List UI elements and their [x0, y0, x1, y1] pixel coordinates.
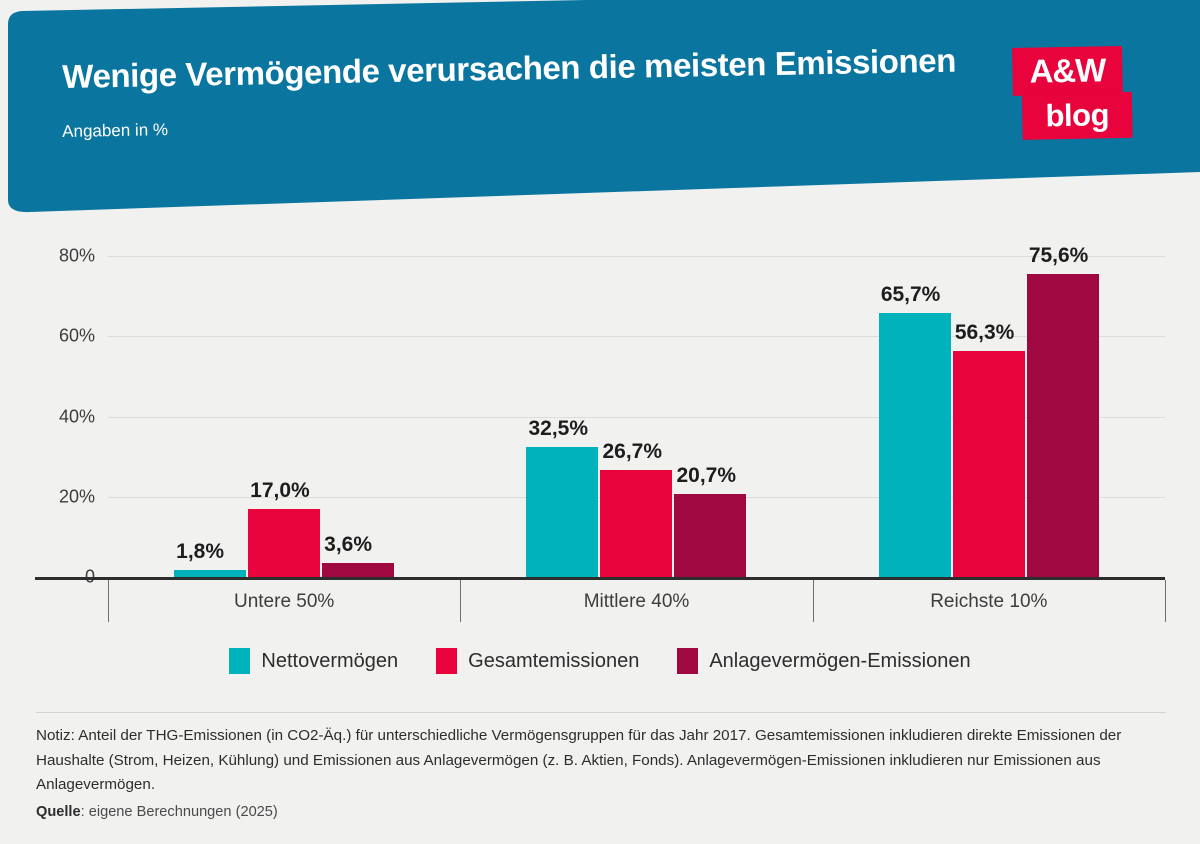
source-value: : eigene Berechnungen (2025) — [81, 804, 278, 820]
bar[interactable] — [953, 351, 1025, 577]
bar[interactable] — [248, 509, 320, 577]
legend-label: Nettovermögen — [261, 650, 398, 673]
plot-area: 1,8%17,0%3,6%32,5%26,7%20,7%65,7%56,3%75… — [108, 232, 1165, 577]
bar-value-label: 26,7% — [602, 440, 662, 464]
bar[interactable] — [526, 447, 598, 577]
logo-text-blog: blog — [1022, 92, 1133, 140]
legend-label: Gesamtemissionen — [468, 650, 639, 673]
bar[interactable] — [322, 563, 394, 577]
y-axis-tick-label: 80% — [35, 246, 95, 267]
header-banner: Wenige Vermögende verursachen die meiste… — [0, 0, 1200, 225]
legend-swatch — [229, 648, 250, 674]
footnote-text: Notiz: Anteil der THG-Emissionen (in CO2… — [36, 724, 1158, 798]
y-axis-tick-label: 20% — [35, 486, 95, 507]
bar-value-label: 65,7% — [881, 283, 941, 307]
category-separator — [1165, 580, 1166, 622]
page-title: Wenige Vermögende verursachen die meiste… — [62, 41, 993, 96]
x-axis-line — [35, 577, 1165, 580]
footer-divider — [36, 712, 1166, 713]
bar-group: 1,8%17,0%3,6% — [108, 232, 460, 577]
bar[interactable] — [174, 570, 246, 577]
bar-value-label: 1,8% — [176, 540, 224, 564]
legend-label: Anlagevermögen-Emissionen — [709, 650, 970, 673]
bar-group: 65,7%56,3%75,6% — [813, 232, 1165, 577]
bar-value-label: 75,6% — [1029, 244, 1089, 268]
y-axis-tick-label: 60% — [35, 326, 95, 347]
chart-legend: NettovermögenGesamtemissionenAnlagevermö… — [0, 648, 1200, 674]
legend-swatch — [677, 648, 698, 674]
bar[interactable] — [674, 494, 746, 577]
legend-item[interactable]: Nettovermögen — [229, 648, 398, 674]
bar-chart: 020%40%60%80% 1,8%17,0%3,6%32,5%26,7%20,… — [0, 232, 1200, 632]
bar[interactable] — [879, 313, 951, 577]
bar[interactable] — [600, 470, 672, 577]
logo-text-aw: A&W — [1012, 46, 1123, 96]
bar-value-label: 32,5% — [528, 417, 588, 441]
x-axis-category-label: Reichste 10% — [813, 591, 1165, 613]
x-axis-category-label: Untere 50% — [108, 591, 460, 613]
source-label: Quelle — [36, 804, 81, 820]
source-line: Quelle: eigene Berechnungen (2025) — [36, 804, 278, 820]
legend-swatch — [436, 648, 457, 674]
bar-value-label: 3,6% — [324, 533, 372, 557]
bar-group: 32,5%26,7%20,7% — [460, 232, 812, 577]
page-subtitle: Angaben in % — [62, 120, 168, 142]
bar-value-label: 20,7% — [676, 464, 736, 488]
legend-item[interactable]: Anlagevermögen-Emissionen — [677, 648, 970, 674]
x-axis-category-label: Mittlere 40% — [460, 591, 812, 613]
y-axis-tick-label: 40% — [35, 406, 95, 427]
bar[interactable] — [1027, 274, 1099, 577]
bar-value-label: 56,3% — [955, 321, 1015, 345]
bar-value-label: 17,0% — [250, 479, 310, 503]
aw-blog-logo[interactable]: A&W blog — [1012, 46, 1136, 140]
legend-item[interactable]: Gesamtemissionen — [436, 648, 639, 674]
